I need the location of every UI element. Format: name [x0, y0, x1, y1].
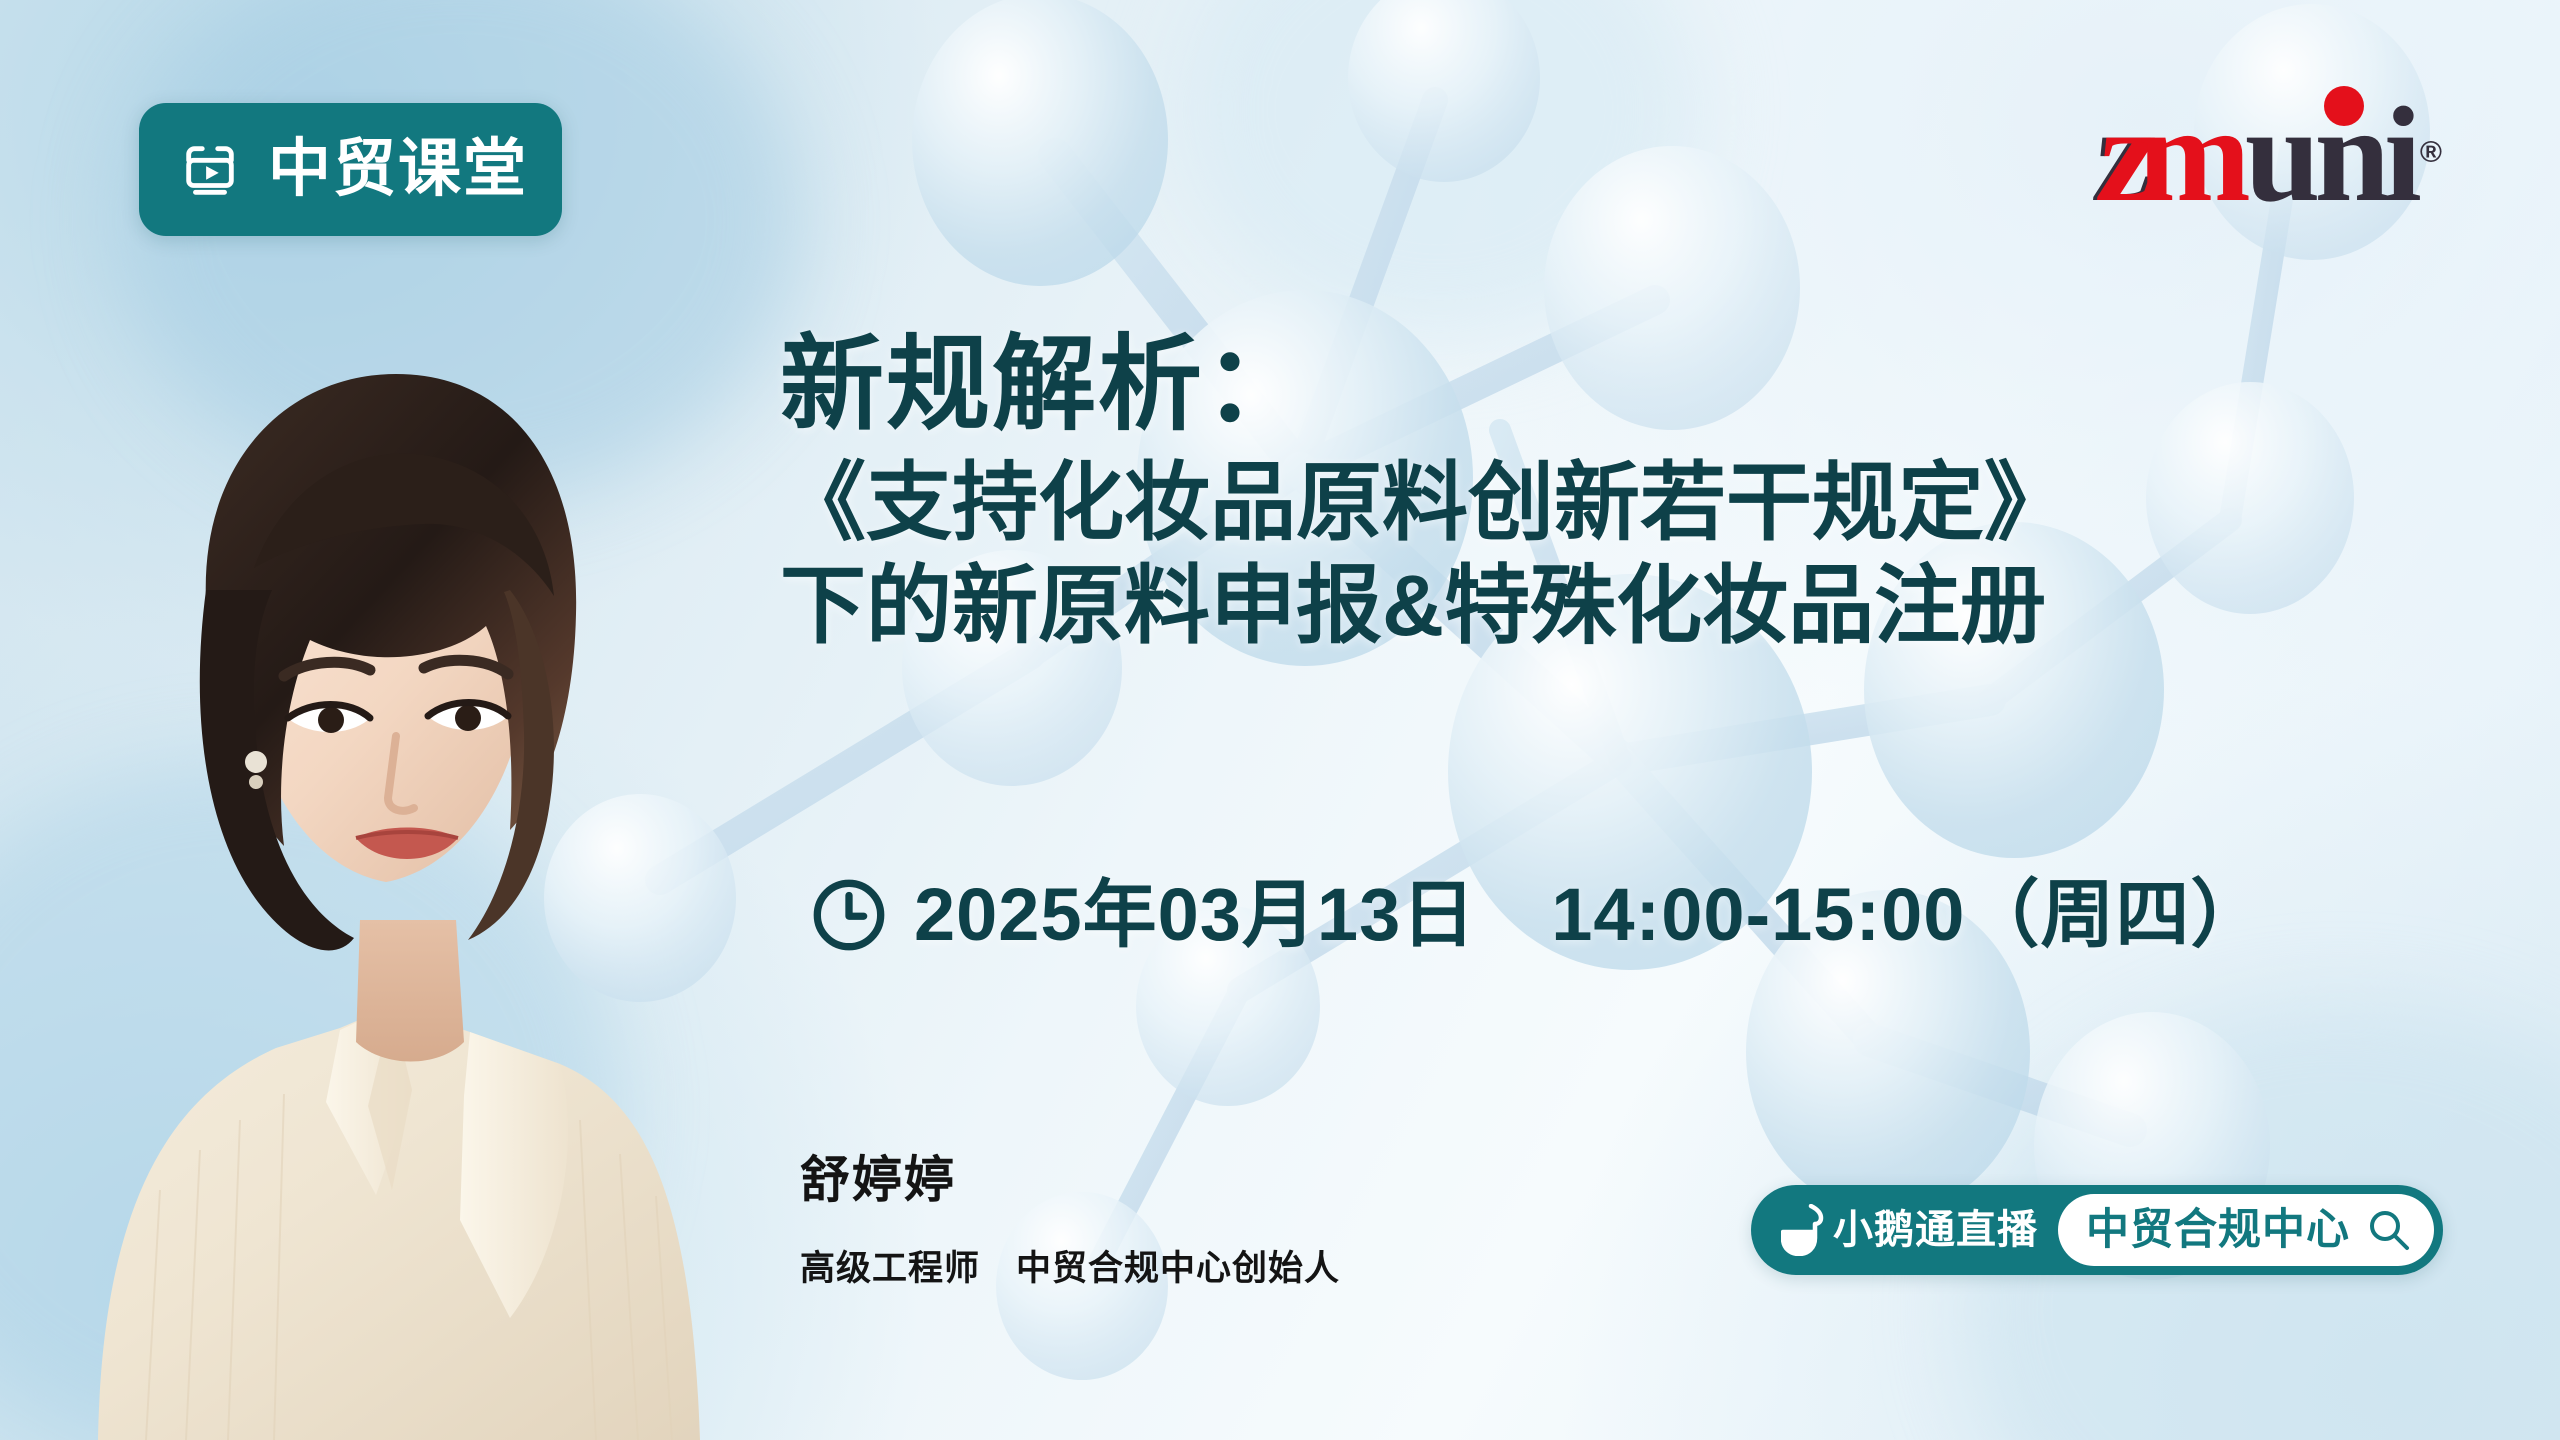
speaker-title: 高级工程师 中贸合规中心创始人 [800, 1251, 1340, 1286]
live-stream-pill[interactable]: 小鹅通直播 中贸合规中心 [1751, 1185, 2443, 1275]
background-blob [0, 760, 620, 1440]
speaker-block: 舒婷婷 高级工程师 中贸合规中心创始人 [800, 1155, 1340, 1286]
webinar-poster: 中贸课堂 z z m uni ® [0, 0, 2560, 1440]
speaker-name: 舒婷婷 [800, 1155, 1340, 1205]
course-badge-label: 中贸课堂 [268, 138, 528, 201]
schedule-row: 2025年03月13日 14:00-15:00（周四） [810, 876, 2265, 954]
background-blob [1180, 0, 1700, 340]
video-play-icon [179, 139, 241, 201]
title-line-3: 下的新原料申报&特殊化妆品注册 [780, 561, 2420, 652]
brand-logo-m: m [2138, 92, 2245, 220]
search-value: 中贸合规中心 [2086, 1209, 2350, 1252]
registered-trademark-mark: ® [2420, 136, 2442, 170]
title-line-1: 新规解析： [780, 330, 2420, 440]
background-blob [120, 0, 800, 500]
search-icon[interactable] [2368, 1209, 2410, 1251]
title-line-2: 《支持化妆品原料创新若干规定》 [780, 458, 2420, 549]
course-badge: 中贸课堂 [139, 103, 562, 236]
headline-block: 新规解析： 《支持化妆品原料创新若干规定》 下的新原料申报&特殊化妆品注册 [780, 330, 2420, 653]
search-box[interactable]: 中贸合规中心 [2058, 1194, 2434, 1266]
brand-logo-mark: z z m uni [2099, 92, 2416, 220]
brand-logo: z z m uni ® [2099, 92, 2442, 220]
goose-note-icon [1781, 1204, 1825, 1256]
schedule-text: 2025年03月13日 14:00-15:00（周四） [914, 878, 2265, 952]
live-platform-label: 小鹅通直播 [1833, 1210, 2038, 1250]
clock-icon [810, 876, 888, 954]
brand-logo-dot-icon [2324, 86, 2364, 126]
